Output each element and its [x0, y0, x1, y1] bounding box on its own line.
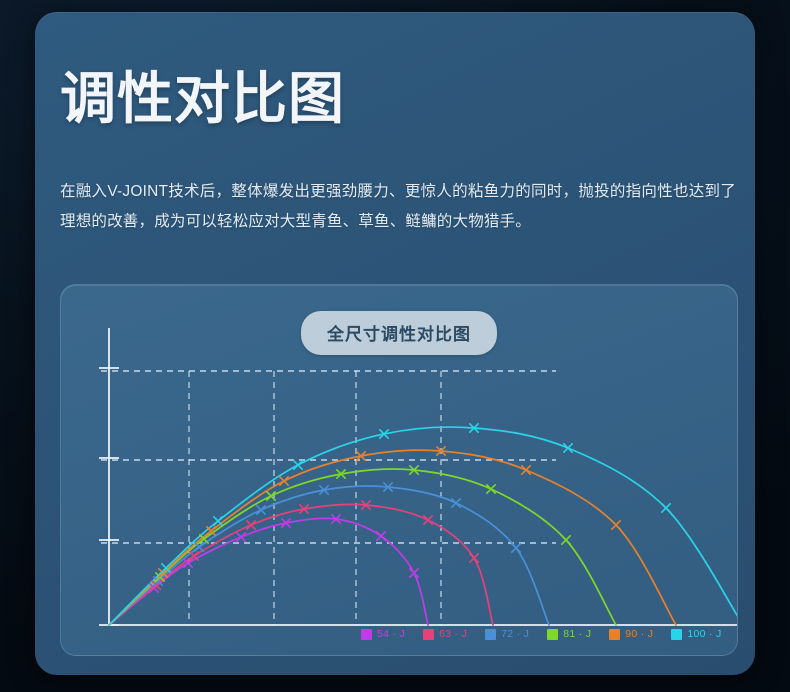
- marker-x-72·J: [257, 506, 265, 514]
- legend-swatch-icon: [485, 629, 496, 640]
- legend-item-54J[interactable]: 54 · J: [361, 628, 405, 640]
- legend-label: 100 · J: [687, 628, 721, 640]
- tonality-comparison-chart: [61, 285, 737, 655]
- marker-x-72·J: [195, 543, 203, 551]
- legend-swatch-icon: [547, 629, 558, 640]
- legend-label: 81 · J: [563, 628, 591, 640]
- marker-x-100·J: [662, 504, 670, 512]
- curve-72·J: [109, 486, 549, 625]
- marker-x-100·J: [564, 444, 572, 452]
- legend-swatch-icon: [361, 629, 372, 640]
- marker-x-90·J: [612, 521, 620, 529]
- marker-x-90·J: [280, 477, 288, 485]
- chart-panel: 全尺寸调性对比图 54 · J63 · J72 · J81 · J90 · J1…: [60, 284, 738, 656]
- marker-x-100·J: [294, 461, 302, 469]
- legend-item-72J[interactable]: 72 · J: [485, 628, 529, 640]
- page-title: 调性对比图: [60, 68, 345, 131]
- chart-gridlines: [101, 371, 556, 625]
- legend-label: 63 · J: [439, 628, 467, 640]
- chart-legend: 54 · J63 · J72 · J81 · J90 · J100 · J: [361, 628, 722, 640]
- legend-label: 90 · J: [625, 628, 653, 640]
- legend-label: 72 · J: [501, 628, 529, 640]
- legend-item-90J[interactable]: 90 · J: [609, 628, 653, 640]
- description-paragraph: 在融入V-JOINT技术后，整体爆发出更强劲腰力、更惊人的粘鱼力的同时，抛投的指…: [60, 177, 736, 237]
- curve-63·J: [109, 504, 493, 625]
- marker-x-90·J: [522, 466, 530, 474]
- curve-90·J: [109, 450, 676, 625]
- marker-x-81·J: [487, 485, 495, 493]
- marker-x-81·J: [562, 536, 570, 544]
- marker-x-63·J: [424, 516, 432, 524]
- product-card: 调性对比图 在融入V-JOINT技术后，整体爆发出更强劲腰力、更惊人的粘鱼力的同…: [35, 12, 755, 675]
- marker-x-63·J: [247, 521, 255, 529]
- marker-x-72·J: [452, 499, 460, 507]
- legend-swatch-icon: [609, 629, 620, 640]
- legend-swatch-icon: [671, 629, 682, 640]
- legend-item-63J[interactable]: 63 · J: [423, 628, 467, 640]
- legend-item-81J[interactable]: 81 · J: [547, 628, 591, 640]
- legend-label: 54 · J: [377, 628, 405, 640]
- legend-swatch-icon: [423, 629, 434, 640]
- marker-x-54·J: [410, 569, 418, 577]
- chart-curves: [109, 427, 737, 625]
- marker-x-72·J: [512, 544, 520, 552]
- legend-item-100J[interactable]: 100 · J: [671, 628, 721, 640]
- marker-x-54·J: [237, 533, 245, 541]
- marker-x-100·J: [214, 517, 222, 525]
- marker-x-54·J: [377, 532, 385, 540]
- curve-100·J: [109, 427, 737, 625]
- page-background: 调性对比图 在融入V-JOINT技术后，整体爆发出更强劲腰力、更惊人的粘鱼力的同…: [0, 0, 790, 692]
- marker-x-63·J: [470, 554, 478, 562]
